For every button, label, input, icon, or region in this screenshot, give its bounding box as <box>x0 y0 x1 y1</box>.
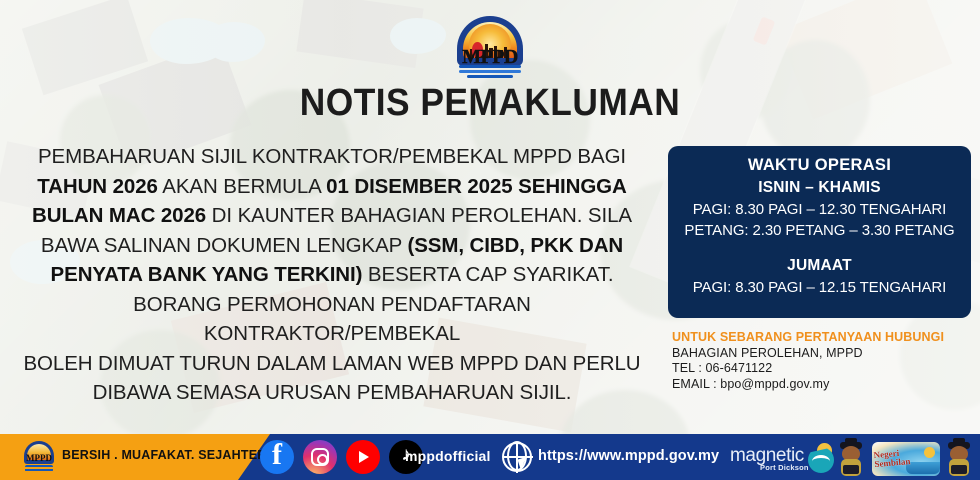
notice-body-run: DI KAUNTER BAHAGIAN PEROLEHAN. SILA <box>206 204 632 227</box>
notice-body-emphasis: BULAN MAC 2026 <box>32 204 206 227</box>
notice-body-run: BESERTA CAP SYARIKAT. <box>362 263 613 286</box>
social-handle: mppdofficial <box>405 448 491 464</box>
youtube-icon[interactable] <box>346 440 380 474</box>
social-icons-row <box>260 440 423 474</box>
notice-body-line: DIBAWA SEMASA URUSAN PEMBAHARUAN SIJIL. <box>12 378 652 408</box>
contact-block: UNTUK SEBARANG PERTANYAAN HUBUNGI BAHAGI… <box>672 330 978 392</box>
notice-body-line: PENYATA BANK YANG TERKINI) BESERTA CAP S… <box>12 260 652 290</box>
footer-bar: MPPD BERSIH . MUAFAKAT. SEJAHTERA mppdof… <box>0 434 980 480</box>
globe-icon <box>502 442 532 472</box>
notice-body-line: PEMBAHARUAN SIJIL KONTRAKTOR/PEMBEKAL MP… <box>12 142 652 172</box>
negeri-sembilan-mascots: Negeri Sembilan <box>838 438 974 480</box>
notice-body-line: BORANG PERMOHONAN PENDAFTARAN KONTRAKTOR… <box>12 290 652 349</box>
hours-friday-morning: PAGI: 8.30 PAGI – 12.15 TENGAHARI <box>668 279 971 296</box>
notice-body-line: BULAN MAC 2026 DI KAUNTER BAHAGIAN PEROL… <box>12 201 652 231</box>
notice-body-line: BOLEH DIMUAT TURUN DALAM LAMAN WEB MPPD … <box>12 349 652 379</box>
hours-weekday-morning: PAGI: 8.30 PAGI – 12.30 TENGAHARI <box>668 201 971 218</box>
contact-department: BAHAGIAN PEROLEHAN, MPPD <box>672 346 978 362</box>
notice-body-emphasis: PENYATA BANK YANG TERKINI) <box>51 263 363 286</box>
notice-body-run: BORANG PERMOHONAN PENDAFTARAN KONTRAKTOR… <box>133 293 531 346</box>
page-title: NOTIS PEMAKLUMAN <box>34 82 945 125</box>
notice-body-run: PEMBAHARUAN SIJIL KONTRAKTOR/PEMBEKAL MP… <box>38 145 626 168</box>
mppd-logo: MPPD <box>0 16 980 78</box>
footer-logo-waves-icon <box>25 465 53 472</box>
notice-poster: MPPD NOTIS PEMAKLUMAN PEMBAHARUAN SIJIL … <box>0 0 980 480</box>
magnetic-wave-icon <box>808 447 834 473</box>
deer-mascot-icon <box>946 440 972 478</box>
notice-body-text: PEMBAHARUAN SIJIL KONTRAKTOR/PEMBEKAL MP… <box>12 142 652 408</box>
footer-mppd-logo: MPPD <box>22 440 56 474</box>
instagram-icon[interactable] <box>303 440 337 474</box>
notice-body-emphasis: TAHUN 2026 <box>37 175 158 198</box>
deer-mascot-icon <box>838 440 864 478</box>
contact-heading: UNTUK SEBARANG PERTANYAAN HUBUNGI <box>672 330 978 346</box>
website-url[interactable]: https://www.mppd.gov.my <box>538 448 719 464</box>
notice-body-run: BOLEH DIMUAT TURUN DALAM LAMAN WEB MPPD … <box>23 352 640 375</box>
operating-hours-panel: WAKTU OPERASI ISNIN – KHAMIS PAGI: 8.30 … <box>668 146 971 318</box>
hours-weekday-afternoon: PETANG: 2.30 PETANG – 3.30 PETANG <box>668 222 971 239</box>
hours-weekday-label: ISNIN – KHAMIS <box>668 179 971 197</box>
notice-body-run: AKAN BERMULA <box>158 175 326 198</box>
hours-title: WAKTU OPERASI <box>668 156 971 175</box>
negeri-sembilan-logo: Negeri Sembilan <box>872 442 940 476</box>
footer-logo-wordmark: MPPD <box>22 453 56 463</box>
hours-friday-label: JUMAAT <box>668 257 971 275</box>
contact-phone: TEL : 06-6471122 <box>672 361 978 377</box>
notice-body-line: BAWA SALINAN DOKUMEN LENGKAP (SSM, CIBD,… <box>12 231 652 261</box>
magnetic-subtitle: Port Dickson <box>760 463 809 472</box>
logo-waves-icon <box>459 65 521 78</box>
notice-body-run: DIBAWA SEMASA URUSAN PEMBAHARUAN SIJIL. <box>93 381 572 404</box>
notice-body-line: TAHUN 2026 AKAN BERMULA 01 DISEMBER 2025… <box>12 172 652 202</box>
notice-body-emphasis: 01 DISEMBER 2025 SEHINGGA <box>326 175 627 198</box>
facebook-icon[interactable] <box>260 440 294 474</box>
magnetic-port-dickson-logo: magnetic Port Dickson <box>730 443 834 475</box>
notice-body-run: BAWA SALINAN DOKUMEN LENGKAP <box>41 234 408 257</box>
footer-slogan: BERSIH . MUAFAKAT. SEJAHTERA <box>62 448 276 462</box>
notice-body-emphasis: (SSM, CIBD, PKK DAN <box>407 234 623 257</box>
contact-email: EMAIL : bpo@mppd.gov.my <box>672 377 978 393</box>
